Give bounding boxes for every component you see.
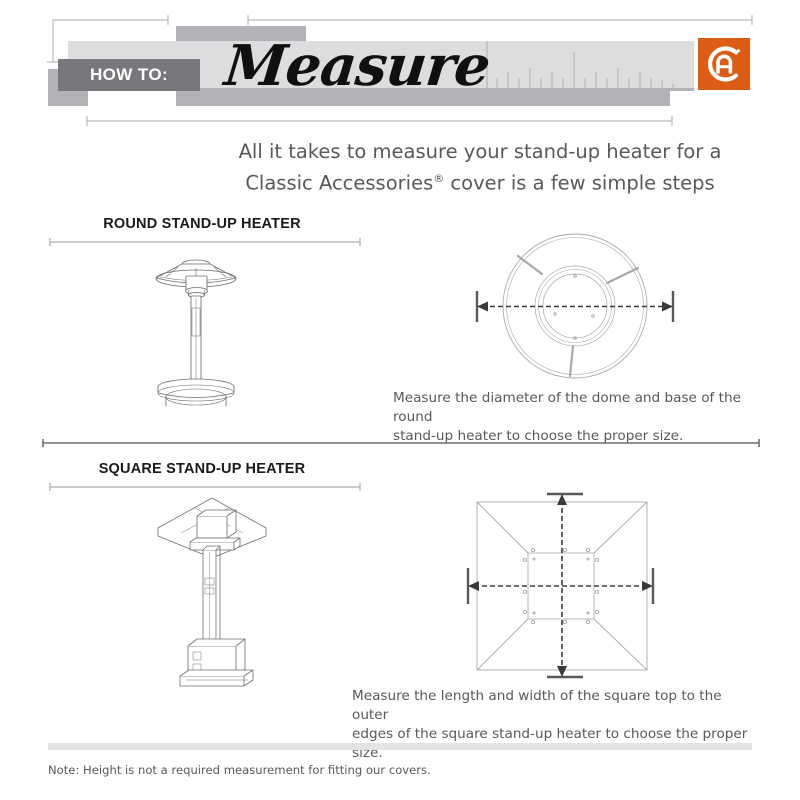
section-title-square: SQUARE STAND-UP HEATER <box>52 461 352 477</box>
section-title-round: ROUND STAND-UP HEATER <box>52 216 352 232</box>
caption-square-line-1: Measure the length and width of the squa… <box>352 687 762 725</box>
subtitle-brand: Classic Accessories <box>245 172 433 195</box>
subtitle: All it takes to measure your stand-up he… <box>180 138 780 197</box>
subtitle-line-2: Classic Accessories® cover is a few simp… <box>180 165 780 197</box>
section-divider <box>40 438 762 448</box>
round-dome-top-view-diagram <box>460 228 690 393</box>
subtitle-line-1: All it takes to measure your stand-up he… <box>180 138 780 165</box>
page-title-script: Measure <box>221 30 499 102</box>
square-stand-up-heater-illustration <box>140 490 285 690</box>
dimension-line-bottom <box>87 116 672 126</box>
how-to-badge: HOW TO: <box>58 59 200 91</box>
how-to-badge-label: HOW TO: <box>90 65 168 85</box>
square-top-view-diagram <box>455 480 680 680</box>
dimension-line-top-right <box>248 15 752 25</box>
registered-mark: ® <box>433 172 444 185</box>
caption-round-line-1: Measure the diameter of the dome and bas… <box>393 389 768 427</box>
classic-accessories-monogram-icon <box>698 38 750 90</box>
brand-logo <box>698 38 750 90</box>
header-banner: HOW TO: Measure <box>0 0 800 128</box>
footer-note: Note: Height is not a required measureme… <box>48 763 431 777</box>
caption-square: Measure the length and width of the squa… <box>352 687 762 763</box>
round-stand-up-heater-illustration <box>130 246 270 406</box>
width-arrow <box>468 581 653 591</box>
how-to-measure-infographic: HOW TO: Measure All it takes to measure … <box>0 0 800 800</box>
footer-rule <box>48 743 752 750</box>
subtitle-line-2-tail: cover is a few simple steps <box>444 172 714 195</box>
